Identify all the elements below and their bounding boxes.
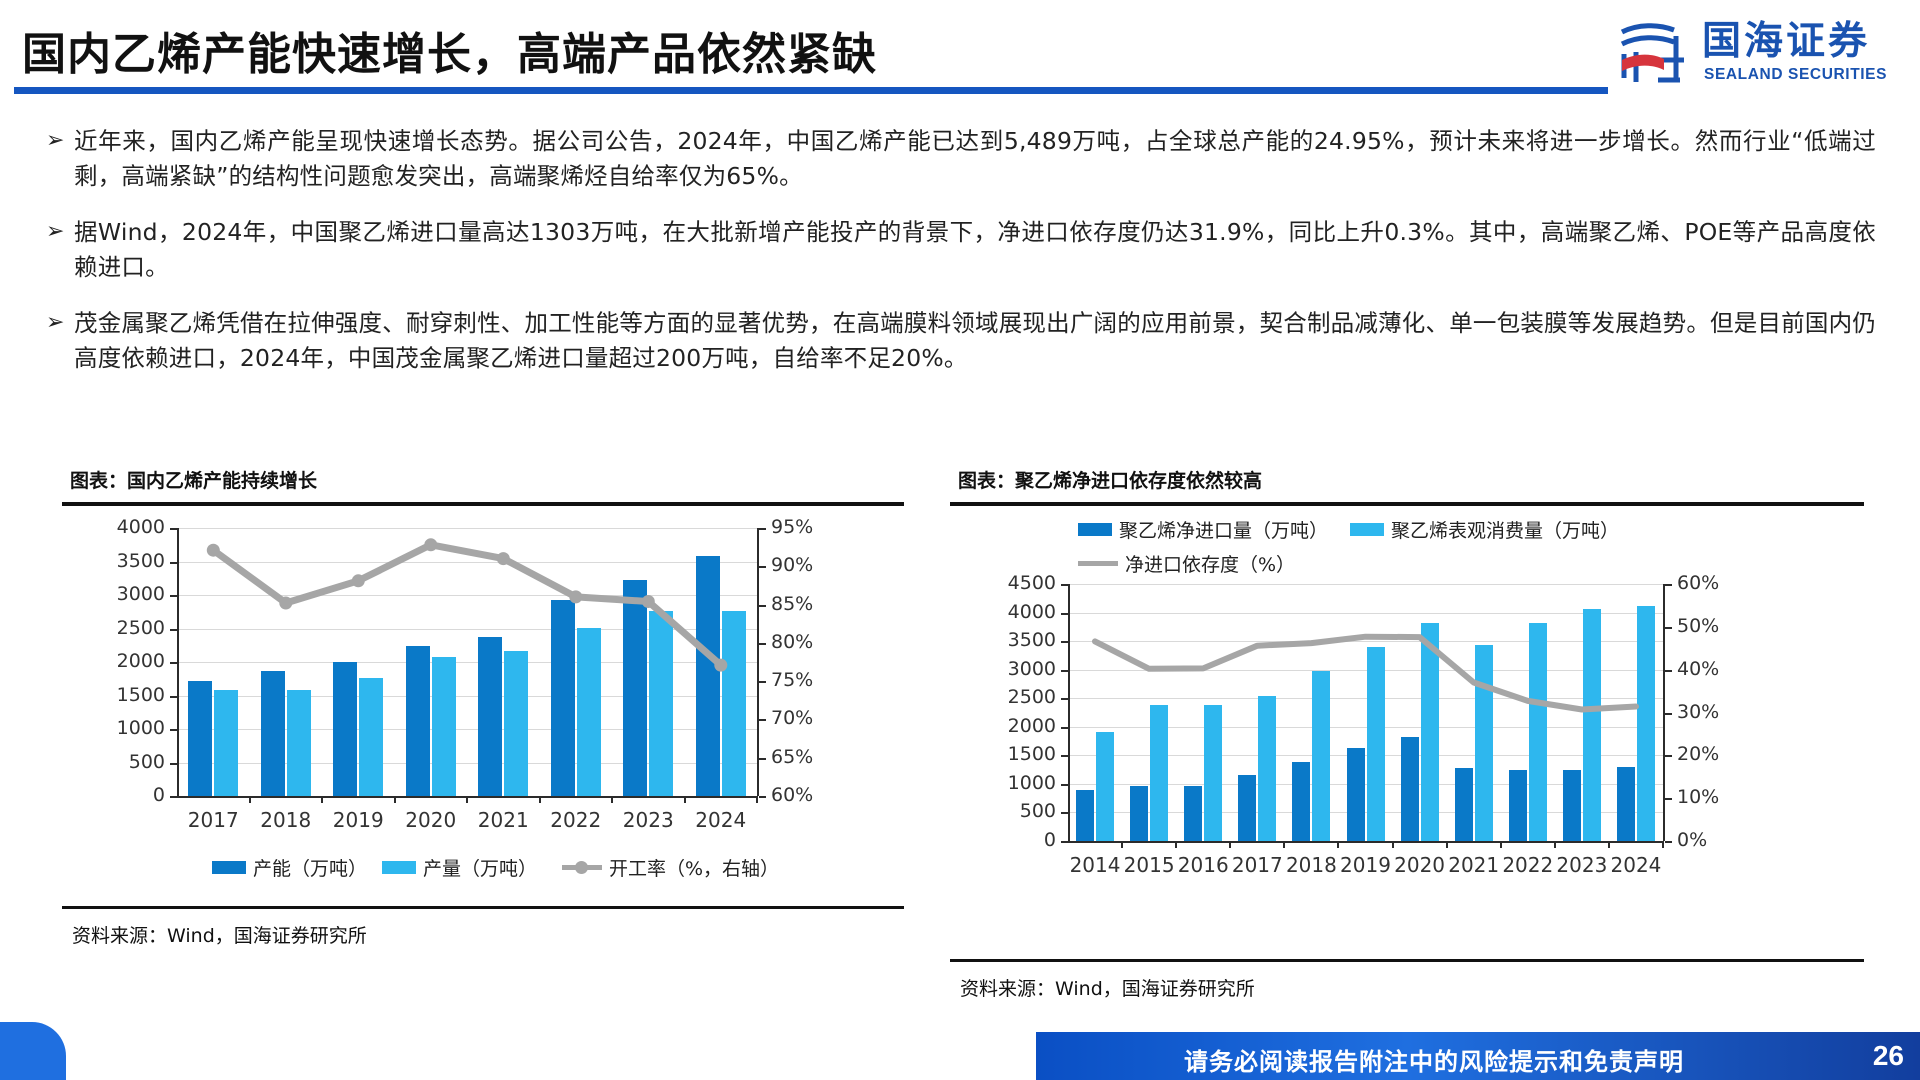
bar bbox=[1563, 770, 1581, 841]
y2-axis-label: 60% bbox=[1677, 574, 1757, 593]
y-axis-label: 3000 bbox=[81, 585, 165, 604]
legend-swatch bbox=[1078, 523, 1112, 536]
y-axis-tick bbox=[1061, 641, 1068, 643]
y-axis-tick bbox=[170, 729, 177, 731]
y2-axis-tick bbox=[1665, 670, 1672, 672]
page-footer: 请务必阅读报告附注中的风险提示和免责声明 26 bbox=[1036, 1032, 1920, 1080]
chart-plot-area: 0500100015002000250030003500400060%65%70… bbox=[62, 506, 904, 906]
footer-disclaimer: 请务必阅读报告附注中的风险提示和免责声明 bbox=[1184, 1042, 1684, 1077]
legend-swatch bbox=[1078, 561, 1118, 566]
y-axis-label: 1000 bbox=[972, 774, 1056, 793]
y2-axis-tick bbox=[1665, 584, 1672, 586]
sealand-logo-mark bbox=[1618, 20, 1692, 86]
gridline bbox=[177, 528, 757, 529]
y-axis-tick bbox=[1061, 698, 1068, 700]
x-axis-tick bbox=[394, 796, 396, 803]
y-axis-tick bbox=[1061, 727, 1068, 729]
logo-english-text: SEALAND SECURITIES bbox=[1704, 66, 1887, 84]
bullet-text: 近年来，国内乙烯产能呈现快速增长态势。据公司公告，2024年，中国乙烯产能已达到… bbox=[74, 124, 1876, 194]
x-axis-tick bbox=[466, 796, 468, 803]
bar bbox=[551, 600, 575, 796]
legend-swatch bbox=[562, 865, 602, 870]
gridline bbox=[1068, 641, 1663, 642]
gridline bbox=[1068, 670, 1663, 671]
y2-axis-label: 95% bbox=[771, 518, 851, 537]
bar bbox=[1529, 623, 1547, 841]
legend-item: 聚乙烯表观消费量（万吨） bbox=[1350, 516, 1619, 543]
bar bbox=[432, 657, 456, 796]
bar bbox=[504, 651, 528, 796]
y-axis-label: 1000 bbox=[81, 719, 165, 738]
y2-axis-label: 80% bbox=[771, 633, 851, 652]
y2-axis-label: 60% bbox=[771, 786, 851, 805]
page-number: 26 bbox=[1873, 1040, 1904, 1072]
bar bbox=[722, 611, 746, 796]
x-axis-tick bbox=[1283, 841, 1285, 848]
y2-axis-label: 70% bbox=[771, 709, 851, 728]
chart-source: 资料来源：Wind，国海证券研究所 bbox=[62, 909, 904, 948]
y2-axis-tick bbox=[1665, 755, 1672, 757]
x-axis-tick bbox=[1121, 841, 1123, 848]
y-axis-tick bbox=[170, 796, 177, 798]
bullet-text: 茂金属聚乙烯凭借在拉伸强度、耐穿刺性、加工性能等方面的显著优势，在高端膜料领域展… bbox=[74, 306, 1876, 376]
gridline bbox=[177, 562, 757, 563]
y-axis-label: 2000 bbox=[81, 652, 165, 671]
y-axis-tick bbox=[1061, 812, 1068, 814]
bar bbox=[1637, 606, 1655, 841]
bar bbox=[696, 556, 720, 796]
y2-axis-tick bbox=[759, 605, 766, 607]
bar bbox=[1096, 732, 1114, 841]
y2-axis-label: 10% bbox=[1677, 788, 1757, 807]
y-axis-label: 2000 bbox=[972, 717, 1056, 736]
y-axis-tick bbox=[1061, 784, 1068, 786]
bar bbox=[359, 678, 383, 796]
x-axis-tick bbox=[249, 796, 251, 803]
x-axis-tick bbox=[321, 796, 323, 803]
bar bbox=[1455, 768, 1473, 841]
company-logo: 国海证券 SEALAND SECURITIES bbox=[1612, 18, 1908, 92]
legend-item: 开工率（%，右轴） bbox=[562, 854, 779, 881]
bar bbox=[406, 646, 430, 796]
y-axis-left bbox=[177, 528, 179, 796]
x-axis-tick bbox=[1446, 841, 1448, 848]
chart-title: 图表：国内乙烯产能持续增长 bbox=[62, 466, 904, 493]
x-axis-tick bbox=[1608, 841, 1610, 848]
bar bbox=[1258, 696, 1276, 841]
legend-item: 聚乙烯净进口量（万吨） bbox=[1078, 516, 1328, 543]
y2-axis-tick bbox=[1665, 627, 1672, 629]
y2-axis-tick bbox=[759, 643, 766, 645]
bar bbox=[577, 628, 601, 796]
y-axis-tick bbox=[170, 595, 177, 597]
title-underline-rule bbox=[14, 87, 1608, 94]
legend-label: 净进口依存度（%） bbox=[1125, 550, 1295, 577]
y-axis-label: 0 bbox=[81, 786, 165, 805]
x-axis-tick bbox=[1392, 841, 1394, 848]
bar bbox=[1076, 790, 1094, 841]
y-axis-label: 3500 bbox=[972, 631, 1056, 650]
chart-title: 图表：聚乙烯净进口依存度依然较高 bbox=[950, 466, 1864, 493]
bullet-arrow-icon: ➢ bbox=[46, 306, 74, 340]
y2-axis-label: 85% bbox=[771, 595, 851, 614]
legend-item: 净进口依存度（%） bbox=[1078, 550, 1295, 577]
bar bbox=[1401, 737, 1419, 841]
x-axis-tick bbox=[1175, 841, 1177, 848]
legend-item: 产能（万吨） bbox=[212, 854, 367, 881]
x-axis-tick bbox=[611, 796, 613, 803]
x-axis-tick bbox=[1229, 841, 1231, 848]
y-axis-left bbox=[1068, 584, 1070, 841]
bullet-arrow-icon: ➢ bbox=[46, 215, 74, 249]
y2-axis-tick bbox=[759, 566, 766, 568]
x-axis bbox=[1068, 841, 1663, 843]
bar bbox=[287, 690, 311, 796]
x-axis-tick bbox=[539, 796, 541, 803]
legend-item: 产量（万吨） bbox=[382, 854, 537, 881]
y-axis-label: 500 bbox=[972, 802, 1056, 821]
bar bbox=[1583, 609, 1601, 841]
y2-axis-label: 20% bbox=[1677, 745, 1757, 764]
legend-swatch bbox=[382, 861, 416, 874]
y-axis-label: 1500 bbox=[81, 686, 165, 705]
y2-axis-tick bbox=[1665, 713, 1672, 715]
y-axis-tick bbox=[170, 629, 177, 631]
footer-corner-accent bbox=[0, 1022, 66, 1080]
bullet-text: 据Wind，2024年，中国聚乙烯进口量高达1303万吨，在大批新增产能投产的背… bbox=[74, 215, 1876, 285]
bar bbox=[1312, 671, 1330, 841]
legend-label: 产量（万吨） bbox=[423, 854, 537, 881]
bar bbox=[1292, 762, 1310, 841]
bar bbox=[1204, 705, 1222, 841]
x-axis-tick bbox=[1554, 841, 1556, 848]
bar bbox=[1475, 645, 1493, 841]
bar bbox=[1238, 775, 1256, 841]
x-axis-tick bbox=[1662, 841, 1664, 848]
bar bbox=[1421, 623, 1439, 841]
bar bbox=[261, 671, 285, 796]
bullet-item: ➢ 茂金属聚乙烯凭借在拉伸强度、耐穿刺性、加工性能等方面的显著优势，在高端膜料领… bbox=[46, 306, 1876, 376]
y-axis-label: 2500 bbox=[81, 619, 165, 638]
y-axis-label: 3000 bbox=[972, 660, 1056, 679]
y2-axis-label: 90% bbox=[771, 556, 851, 575]
logo-chinese-text: 国海证券 bbox=[1702, 20, 1870, 64]
y-axis-label: 4500 bbox=[972, 574, 1056, 593]
y2-axis-label: 40% bbox=[1677, 660, 1757, 679]
bar bbox=[1150, 705, 1168, 841]
bar bbox=[1130, 786, 1148, 841]
y-axis-tick bbox=[1061, 613, 1068, 615]
y2-axis-tick bbox=[1665, 841, 1672, 843]
bar bbox=[623, 580, 647, 796]
y-axis-tick bbox=[1061, 755, 1068, 757]
x-axis-tick bbox=[1337, 841, 1339, 848]
chart-source: 资料来源：Wind，国海证券研究所 bbox=[950, 962, 1864, 1001]
y2-axis-tick bbox=[759, 528, 766, 530]
y2-axis-tick bbox=[759, 681, 766, 683]
y-axis-tick bbox=[1061, 670, 1068, 672]
y2-axis-tick bbox=[759, 719, 766, 721]
y2-axis-label: 75% bbox=[771, 671, 851, 690]
y-axis-tick bbox=[1061, 841, 1068, 843]
y-axis-tick bbox=[170, 696, 177, 698]
y-axis-tick bbox=[170, 662, 177, 664]
bullet-arrow-icon: ➢ bbox=[46, 124, 74, 158]
bullet-list: ➢ 近年来，国内乙烯产能呈现快速增长态势。据公司公告，2024年，中国乙烯产能已… bbox=[46, 124, 1876, 397]
y-axis-label: 4000 bbox=[81, 518, 165, 537]
bullet-item: ➢ 据Wind，2024年，中国聚乙烯进口量高达1303万吨，在大批新增产能投产… bbox=[46, 215, 1876, 285]
legend-swatch bbox=[212, 861, 246, 874]
gridline bbox=[177, 595, 757, 596]
y-axis-label: 1500 bbox=[972, 745, 1056, 764]
y-axis-label: 4000 bbox=[972, 603, 1056, 622]
y2-axis-label: 30% bbox=[1677, 703, 1757, 722]
y2-axis-label: 0% bbox=[1677, 831, 1757, 850]
legend-label: 聚乙烯表观消费量（万吨） bbox=[1391, 516, 1619, 543]
x-axis-tick bbox=[684, 796, 686, 803]
y2-axis-tick bbox=[1665, 798, 1672, 800]
bar bbox=[478, 637, 502, 796]
bar bbox=[1617, 767, 1635, 841]
legend-swatch bbox=[1350, 523, 1384, 536]
gridline bbox=[1068, 698, 1663, 699]
y2-axis-label: 50% bbox=[1677, 617, 1757, 636]
gridline bbox=[1068, 584, 1663, 585]
bar bbox=[1347, 748, 1365, 841]
legend-label: 聚乙烯净进口量（万吨） bbox=[1119, 516, 1328, 543]
bar bbox=[333, 662, 357, 796]
legend-label: 产能（万吨） bbox=[253, 854, 367, 881]
y2-axis-tick bbox=[759, 758, 766, 760]
legend-label: 开工率（%，右轴） bbox=[609, 854, 779, 881]
y-axis-label: 3500 bbox=[81, 552, 165, 571]
chart-panel-pe-import-dependency: 图表：聚乙烯净进口依存度依然较高 05001000150020002500300… bbox=[950, 466, 1864, 1001]
bar bbox=[214, 690, 238, 796]
chart-plot-area: 0500100015002000250030003500400045000%10… bbox=[950, 506, 1864, 959]
bar bbox=[1509, 770, 1527, 841]
y2-axis-label: 65% bbox=[771, 748, 851, 767]
bar bbox=[188, 681, 212, 796]
page-title: 国内乙烯产能快速增长，高端产品依然紧缺 bbox=[22, 18, 877, 82]
chart-panel-ethylene-capacity: 图表：国内乙烯产能持续增长 05001000150020002500300035… bbox=[62, 466, 904, 948]
x-axis-label: 2024 bbox=[1586, 853, 1686, 877]
x-axis-tick bbox=[1500, 841, 1502, 848]
x-axis-tick bbox=[756, 796, 758, 803]
y-axis-tick bbox=[170, 562, 177, 564]
gridline bbox=[1068, 613, 1663, 614]
y-axis-tick bbox=[170, 528, 177, 530]
x-axis-label: 2024 bbox=[671, 808, 771, 832]
y-axis-label: 0 bbox=[972, 831, 1056, 850]
bar bbox=[1367, 647, 1385, 841]
y-axis-tick bbox=[1061, 584, 1068, 586]
bar bbox=[649, 611, 673, 796]
y2-axis-tick bbox=[759, 796, 766, 798]
bullet-item: ➢ 近年来，国内乙烯产能呈现快速增长态势。据公司公告，2024年，中国乙烯产能已… bbox=[46, 124, 1876, 194]
bar bbox=[1184, 786, 1202, 841]
y-axis-tick bbox=[170, 763, 177, 765]
y-axis-label: 2500 bbox=[972, 688, 1056, 707]
y-axis-label: 500 bbox=[81, 753, 165, 772]
page-header: 国内乙烯产能快速增长，高端产品依然紧缺 国海证券 SEALAND SECURIT… bbox=[0, 0, 1920, 104]
